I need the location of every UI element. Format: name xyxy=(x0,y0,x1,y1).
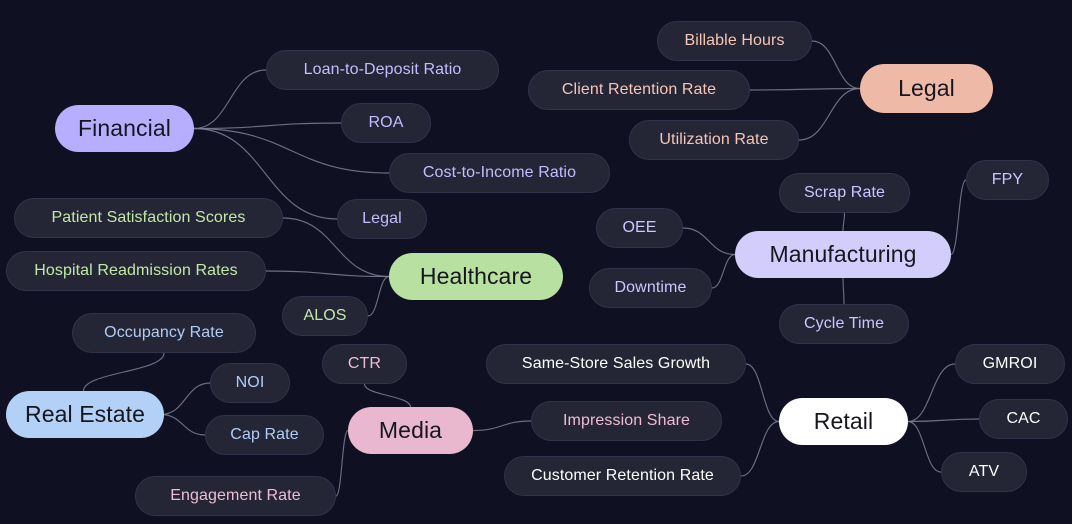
edge-media-2 xyxy=(336,431,348,497)
edge-retail-0 xyxy=(746,364,779,422)
mind-map-canvas: FinancialLoan-to-Deposit RatioROACost-to… xyxy=(0,0,1072,524)
edge-manufacturing-1 xyxy=(712,255,735,289)
edge-retail-2 xyxy=(908,364,955,422)
leaf-node-hospital-readmission-rates[interactable]: Hospital Readmission Rates xyxy=(6,251,266,291)
edge-manufacturing-3 xyxy=(843,278,844,304)
edge-legal-0 xyxy=(812,41,860,89)
leaf-node-same-store-sales-growth[interactable]: Same-Store Sales Growth xyxy=(486,344,746,384)
leaf-node-atv[interactable]: ATV xyxy=(941,452,1027,492)
leaf-node-occupancy-rate[interactable]: Occupancy Rate xyxy=(72,313,256,353)
edge-manufacturing-0 xyxy=(683,228,735,255)
leaf-node-gmroi[interactable]: GMROI xyxy=(955,344,1065,384)
leaf-node-impression-share[interactable]: Impression Share xyxy=(531,401,722,441)
root-node-financial[interactable]: Financial xyxy=(55,105,194,152)
edge-financial-1 xyxy=(194,123,341,129)
edge-legal-2 xyxy=(799,89,860,141)
leaf-node-legal[interactable]: Legal xyxy=(337,199,427,239)
root-node-manufacturing[interactable]: Manufacturing xyxy=(735,231,951,278)
edge-real-estate-1 xyxy=(161,383,210,415)
leaf-node-cap-rate[interactable]: Cap Rate xyxy=(205,415,324,455)
leaf-node-fpy[interactable]: FPY xyxy=(966,160,1049,200)
leaf-node-billable-hours[interactable]: Billable Hours xyxy=(657,21,812,61)
leaf-node-downtime[interactable]: Downtime xyxy=(589,268,712,308)
edge-media-1 xyxy=(473,421,531,431)
leaf-node-loan-to-deposit-ratio[interactable]: Loan-to-Deposit Ratio xyxy=(266,50,499,90)
leaf-node-cac[interactable]: CAC xyxy=(979,399,1068,439)
leaf-node-roa[interactable]: ROA xyxy=(341,103,431,143)
root-node-legal[interactable]: Legal xyxy=(860,64,993,113)
leaf-node-oee[interactable]: OEE xyxy=(596,208,683,248)
leaf-node-customer-retention-rate[interactable]: Customer Retention Rate xyxy=(504,456,741,496)
edge-manufacturing-4 xyxy=(951,180,966,255)
root-node-healthcare[interactable]: Healthcare xyxy=(389,253,563,300)
leaf-node-scrap-rate[interactable]: Scrap Rate xyxy=(779,173,910,213)
edge-media-0 xyxy=(365,384,411,407)
leaf-node-cycle-time[interactable]: Cycle Time xyxy=(779,304,909,344)
edge-retail-4 xyxy=(908,422,941,473)
edge-retail-3 xyxy=(908,419,979,422)
leaf-node-utilization-rate[interactable]: Utilization Rate xyxy=(629,120,799,160)
leaf-node-cost-to-income-ratio[interactable]: Cost-to-Income Ratio xyxy=(389,153,610,193)
edge-financial-0 xyxy=(194,70,266,129)
leaf-node-engagement-rate[interactable]: Engagement Rate xyxy=(135,476,336,516)
leaf-node-alos[interactable]: ALOS xyxy=(282,296,368,336)
edge-healthcare-1 xyxy=(266,271,389,277)
leaf-node-ctr[interactable]: CTR xyxy=(322,344,407,384)
leaf-node-patient-satisfaction-scores[interactable]: Patient Satisfaction Scores xyxy=(14,198,283,238)
root-node-real-estate[interactable]: Real Estate xyxy=(6,391,164,438)
leaf-node-client-retention-rate[interactable]: Client Retention Rate xyxy=(528,70,750,110)
leaf-node-noi[interactable]: NOI xyxy=(210,363,290,403)
root-node-retail[interactable]: Retail xyxy=(779,398,908,445)
edge-manufacturing-2 xyxy=(843,213,845,231)
edge-healthcare-2 xyxy=(368,277,389,317)
edge-legal-1 xyxy=(750,89,860,91)
edge-real-estate-2 xyxy=(161,415,205,436)
root-node-media[interactable]: Media xyxy=(348,407,473,454)
edge-real-estate-0 xyxy=(84,353,165,391)
edge-retail-1 xyxy=(741,422,779,477)
